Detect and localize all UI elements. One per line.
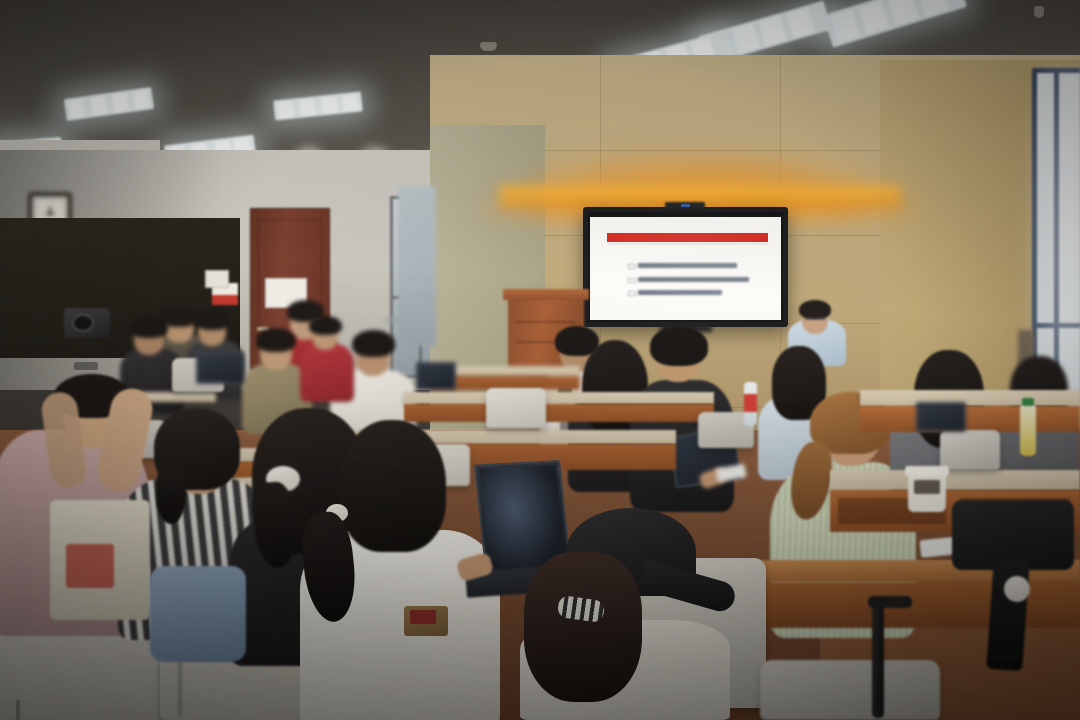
ponytail bbox=[156, 464, 186, 524]
desk-front bbox=[860, 406, 1080, 432]
long-hair bbox=[524, 552, 642, 702]
slide-text-line bbox=[638, 263, 737, 268]
cup-lid bbox=[905, 466, 949, 476]
ceiling-mount bbox=[1034, 6, 1044, 18]
tote-graphic bbox=[66, 544, 114, 588]
laptop[interactable] bbox=[196, 352, 244, 384]
chair-foreground[interactable] bbox=[760, 660, 940, 720]
desk-row bbox=[404, 392, 714, 404]
laptop[interactable] bbox=[416, 362, 456, 390]
desk-row bbox=[830, 470, 1080, 490]
camera-lens bbox=[72, 314, 94, 332]
desk-row bbox=[860, 390, 1080, 406]
chair[interactable] bbox=[940, 430, 1000, 470]
slide-content bbox=[590, 217, 781, 320]
ceiling-speaker bbox=[480, 42, 497, 51]
camera[interactable] bbox=[64, 308, 110, 338]
camera-lens bbox=[681, 204, 690, 207]
chair-leg bbox=[16, 700, 20, 720]
slide-text-line bbox=[638, 277, 749, 282]
patch-logo bbox=[410, 610, 436, 624]
water-bottle[interactable] bbox=[744, 382, 757, 426]
ceiling-panel-light bbox=[273, 91, 363, 120]
side-window bbox=[398, 186, 436, 346]
glasses-icon bbox=[74, 362, 98, 370]
slide-text-line bbox=[638, 290, 722, 295]
ceiling-panel-light bbox=[823, 0, 967, 48]
wall-switch-box[interactable] bbox=[205, 270, 229, 288]
bottle-cap bbox=[1022, 398, 1034, 406]
bottle-label bbox=[744, 394, 757, 412]
slide-accent-bar bbox=[607, 233, 767, 242]
person-back-center bbox=[300, 318, 356, 398]
person-black-cap bbox=[500, 490, 740, 720]
glasses-icon bbox=[804, 316, 826, 320]
bag-strap bbox=[986, 559, 1030, 671]
tote-bag[interactable] bbox=[50, 500, 150, 620]
laptop[interactable] bbox=[916, 402, 966, 432]
lecture-room-photo bbox=[0, 0, 1080, 720]
tea-bottle[interactable] bbox=[1020, 404, 1036, 456]
luggage-grip bbox=[868, 596, 912, 608]
ceiling-panel-light bbox=[64, 87, 154, 121]
luggage-handle[interactable] bbox=[872, 600, 884, 718]
bag-charm bbox=[1004, 576, 1030, 602]
presentation-display[interactable] bbox=[583, 207, 788, 327]
coffee-cup[interactable] bbox=[908, 470, 946, 512]
denim-jacket bbox=[150, 566, 246, 662]
